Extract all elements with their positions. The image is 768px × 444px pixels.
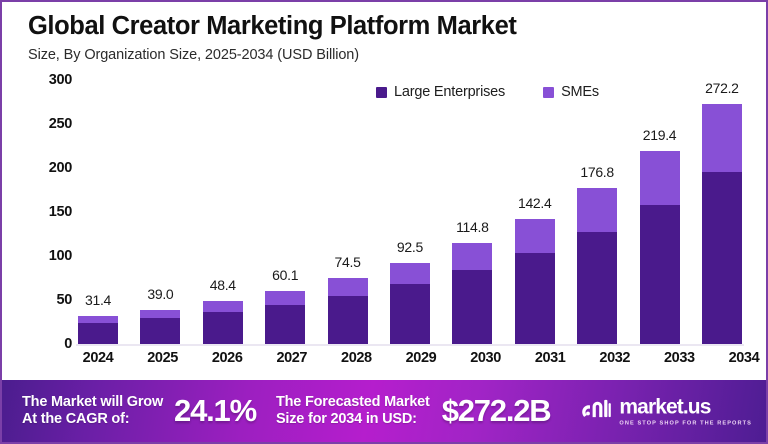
summary-banner: The Market will Grow At the CAGR of: 24.…: [2, 380, 766, 442]
cagr-block: The Market will Grow At the CAGR of: 24.…: [22, 393, 256, 429]
bar-value-label: 272.2: [705, 80, 739, 96]
bar-group[interactable]: 74.5: [328, 80, 368, 344]
market-us-logo-icon: [581, 396, 611, 427]
bar-value-label: 114.8: [456, 219, 489, 235]
bar-value-label: 39.0: [147, 286, 173, 302]
bar-value-label: 176.8: [580, 164, 614, 180]
y-axis-tick: 50: [56, 292, 72, 308]
forecast-caption-line-1: The Forecasted Market: [276, 394, 430, 411]
bar-value-label: 48.4: [210, 277, 236, 293]
bar-segment-smes[interactable]: [390, 263, 430, 285]
bar-segment-smes[interactable]: [640, 151, 680, 205]
x-axis-tick-label: 2025: [143, 350, 183, 366]
x-axis-tick-label: 2024: [78, 350, 118, 366]
y-axis-tick: 300: [49, 72, 72, 88]
bar-segment-large-enterprises[interactable]: [577, 232, 617, 344]
market-infographic-card: Global Creator Marketing Platform Market…: [0, 0, 768, 444]
market-us-logo-text: market.us ONE STOP SHOP FOR THE REPORTS: [619, 396, 752, 426]
x-axis-tick-label: 2032: [595, 350, 635, 366]
bar-value-label: 74.5: [335, 254, 361, 270]
x-axis-baseline: [76, 344, 744, 346]
bar-value-label: 60.1: [272, 267, 298, 283]
bar-group[interactable]: 114.8: [452, 80, 492, 344]
bar-segment-smes[interactable]: [265, 291, 305, 305]
bar-series-container: 31.439.048.460.174.592.5114.8142.4176.82…: [78, 80, 742, 344]
y-axis: 050100150200250300: [28, 80, 72, 346]
bar-value-label: 92.5: [397, 239, 423, 255]
bar-segment-smes[interactable]: [328, 278, 368, 295]
bar-group[interactable]: 176.8: [577, 80, 617, 344]
y-axis-tick: 0: [64, 336, 72, 352]
bar-stack[interactable]: [78, 316, 118, 344]
bar-segment-large-enterprises[interactable]: [390, 284, 430, 344]
x-axis-tick-label: 2028: [336, 350, 376, 366]
bar-stack[interactable]: [265, 291, 305, 344]
x-axis-tick-label: 2026: [207, 350, 247, 366]
bar-stack[interactable]: [515, 219, 555, 344]
bar-segment-smes[interactable]: [140, 310, 180, 319]
cagr-caption: The Market will Grow At the CAGR of:: [22, 394, 163, 429]
logo-wordmark: market.us: [619, 396, 752, 417]
y-axis-tick: 250: [49, 116, 72, 132]
cagr-caption-line-1: The Market will Grow: [22, 394, 163, 411]
bar-group[interactable]: 142.4: [515, 80, 555, 344]
bar-segment-large-enterprises[interactable]: [140, 318, 180, 344]
bar-stack[interactable]: [328, 278, 368, 344]
bar-segment-large-enterprises[interactable]: [328, 296, 368, 344]
page-title: Global Creator Marketing Platform Market: [28, 12, 746, 41]
logo-tagline: ONE STOP SHOP FOR THE REPORTS: [619, 420, 752, 426]
forecast-block: The Forecasted Market Size for 2034 in U…: [276, 393, 551, 429]
bar-segment-large-enterprises[interactable]: [702, 172, 742, 344]
bar-value-label: 31.4: [85, 292, 111, 308]
bar-group[interactable]: 60.1: [265, 80, 305, 344]
bar-segment-smes[interactable]: [702, 104, 742, 172]
bar-stack[interactable]: [577, 188, 617, 344]
bar-segment-large-enterprises[interactable]: [640, 205, 680, 344]
bar-segment-smes[interactable]: [203, 301, 243, 312]
bar-group[interactable]: 219.4: [640, 80, 680, 344]
y-axis-tick: 200: [49, 160, 72, 176]
forecast-caption-line-2: Size for 2034 in USD:: [276, 411, 430, 428]
forecast-value: $272.2B: [442, 393, 551, 429]
bar-segment-large-enterprises[interactable]: [203, 312, 243, 344]
bar-group[interactable]: 48.4: [203, 80, 243, 344]
bar-segment-smes[interactable]: [515, 219, 555, 253]
bar-stack[interactable]: [203, 301, 243, 344]
x-axis-tick-label: 2027: [272, 350, 312, 366]
cagr-caption-line-2: At the CAGR of:: [22, 411, 163, 428]
x-axis-tick-label: 2033: [659, 350, 699, 366]
bar-value-label: 219.4: [643, 127, 677, 143]
page-subtitle: Size, By Organization Size, 2025-2034 (U…: [28, 47, 746, 63]
bar-segment-smes[interactable]: [452, 243, 492, 270]
cagr-value: 24.1%: [174, 393, 256, 429]
x-axis-tick-label: 2030: [466, 350, 506, 366]
bar-segment-large-enterprises[interactable]: [78, 323, 118, 344]
market-us-logo[interactable]: market.us ONE STOP SHOP FOR THE REPORTS: [581, 396, 752, 427]
chart-plot-area: 050100150200250300 31.439.048.460.174.59…: [28, 80, 744, 346]
x-axis-tick-label: 2029: [401, 350, 441, 366]
header: Global Creator Marketing Platform Market…: [28, 12, 746, 63]
bar-stack[interactable]: [452, 243, 492, 344]
x-axis-tick-label: 2034: [724, 350, 764, 366]
bar-segment-large-enterprises[interactable]: [515, 253, 555, 344]
bar-segment-large-enterprises[interactable]: [265, 305, 305, 344]
y-axis-tick: 100: [49, 248, 72, 264]
x-axis-labels: 2024202520262027202820292030203120322033…: [78, 350, 764, 366]
bar-group[interactable]: 31.4: [78, 80, 118, 344]
bar-value-label: 142.4: [518, 195, 552, 211]
bar-group[interactable]: 92.5: [390, 80, 430, 344]
bar-stack[interactable]: [390, 263, 430, 344]
bar-segment-smes[interactable]: [78, 316, 118, 323]
forecast-caption: The Forecasted Market Size for 2034 in U…: [276, 394, 430, 429]
bar-stack[interactable]: [702, 104, 742, 344]
bar-stack[interactable]: [140, 310, 180, 344]
bar-group[interactable]: 272.2: [702, 80, 742, 344]
y-axis-tick: 150: [49, 204, 72, 220]
bar-segment-smes[interactable]: [577, 188, 617, 231]
bar-segment-large-enterprises[interactable]: [452, 270, 492, 344]
bar-group[interactable]: 39.0: [140, 80, 180, 344]
x-axis-tick-label: 2031: [530, 350, 570, 366]
bar-stack[interactable]: [640, 151, 680, 344]
